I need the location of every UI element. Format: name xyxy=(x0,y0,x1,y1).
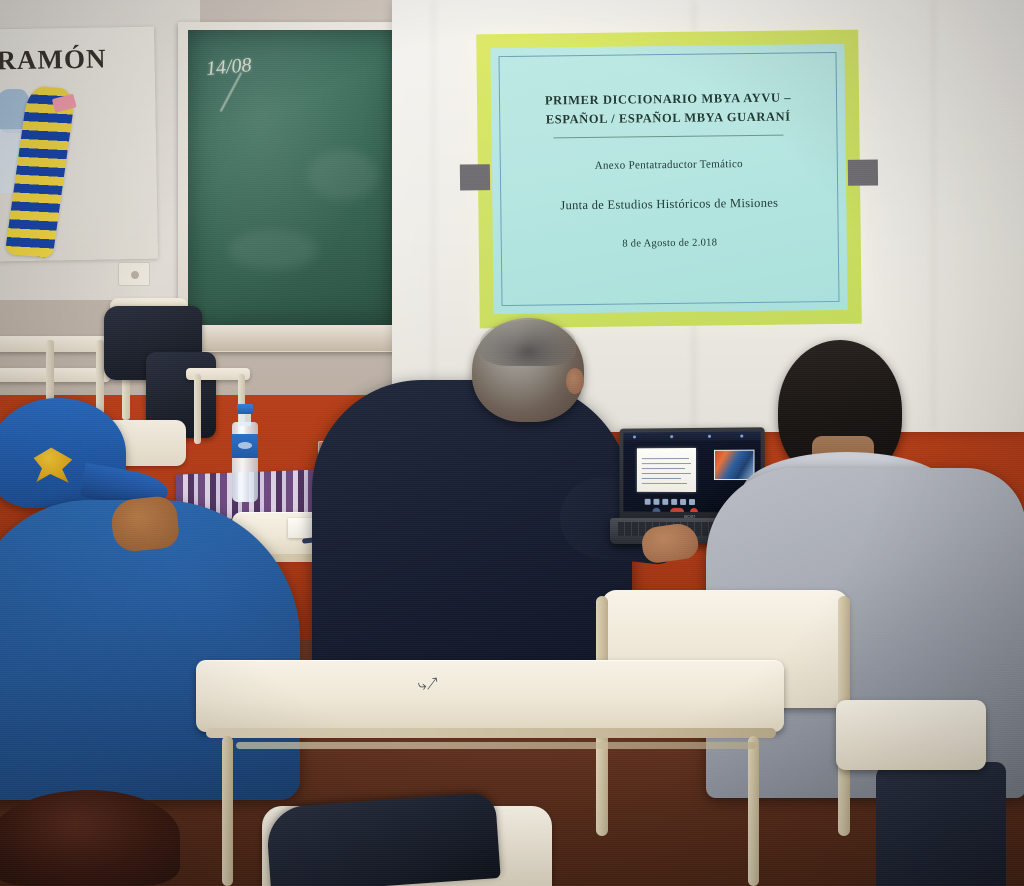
slide-right-tab xyxy=(848,159,878,185)
text-line xyxy=(642,473,691,474)
text-line xyxy=(642,478,681,479)
text-line xyxy=(642,468,685,469)
desk-leg xyxy=(222,736,233,886)
chalk-smudge xyxy=(228,230,318,270)
record-icon[interactable] xyxy=(690,508,698,513)
presenter-hair xyxy=(480,320,576,366)
zoom-icon[interactable] xyxy=(671,499,677,505)
slide-left-tab xyxy=(460,164,490,190)
wall-outlet xyxy=(118,262,150,286)
more-icon[interactable] xyxy=(689,499,695,505)
photo-thumbnail[interactable] xyxy=(714,450,755,480)
text-line xyxy=(642,458,689,459)
app-toolbar[interactable] xyxy=(623,431,760,441)
slide-divider-rule xyxy=(553,134,783,138)
bottle-neck xyxy=(239,412,251,426)
wall-poster: RAMÓN xyxy=(0,27,158,262)
settings-icon[interactable] xyxy=(653,508,661,513)
check-icon[interactable] xyxy=(680,499,686,505)
desk-leg xyxy=(748,736,759,886)
poster-title-text: RAMÓN xyxy=(0,43,107,76)
chalkboard-date-text: 14/08 xyxy=(205,54,252,81)
sheet-fold xyxy=(432,0,435,430)
desk-frame-bar xyxy=(206,728,776,738)
slide-organization: Junta de Estudios Históricos de Misiones xyxy=(492,195,846,214)
edit-tool-row[interactable] xyxy=(645,498,706,506)
student-right-jeans xyxy=(876,762,1006,886)
presenter-ear xyxy=(566,368,584,394)
text-line xyxy=(642,463,691,464)
label-badge[interactable] xyxy=(670,508,684,513)
classroom-photo-scene: RAMÓN 14/08 PRIMER DICCIONARIO MBYA AYVU… xyxy=(0,0,1024,886)
toolbar-icon[interactable] xyxy=(670,435,673,438)
desk-doodle: ⤷↗ xyxy=(417,675,440,696)
slide-text-block: PRIMER DICCIONARIO MBYA AYVU – ESPAÑOL /… xyxy=(491,88,847,251)
chalkboard-ledge xyxy=(180,325,402,351)
student-left-hand xyxy=(109,495,180,554)
slide-preview-panel[interactable] xyxy=(637,448,696,492)
stacked-desk xyxy=(0,368,110,382)
text-line xyxy=(642,483,687,484)
chalk-smudge xyxy=(308,150,378,200)
toolbar-icon[interactable] xyxy=(708,435,711,438)
desk-surface xyxy=(836,700,986,770)
slide-subtitle: Anexo Pentatraductor Temático xyxy=(492,157,846,173)
toolbar-icon[interactable] xyxy=(740,435,743,438)
stacked-desk xyxy=(0,336,110,352)
slide-title-line-2: ESPAÑOL / ESPAÑOL MBYA GUARANÍ xyxy=(491,107,845,131)
slide-inner-panel: PRIMER DICCIONARIO MBYA AYVU – ESPAÑOL /… xyxy=(490,44,847,314)
student-front-head xyxy=(0,790,180,886)
water-bottle xyxy=(232,404,258,502)
bottle-label xyxy=(232,434,258,458)
pencil-icon[interactable] xyxy=(645,499,651,505)
toolbar-icon[interactable] xyxy=(633,435,636,438)
shape-icon[interactable] xyxy=(662,499,668,505)
sheet-fold xyxy=(932,0,935,430)
desk-crossbar xyxy=(236,742,756,749)
foreground-desk xyxy=(196,660,784,732)
projected-slide: PRIMER DICCIONARIO MBYA AYVU – ESPAÑOL /… xyxy=(476,30,862,329)
desk-leg xyxy=(194,374,201,444)
image-icon[interactable] xyxy=(654,499,660,505)
foreground-backpack xyxy=(265,792,500,886)
bottle-cap xyxy=(237,404,253,414)
